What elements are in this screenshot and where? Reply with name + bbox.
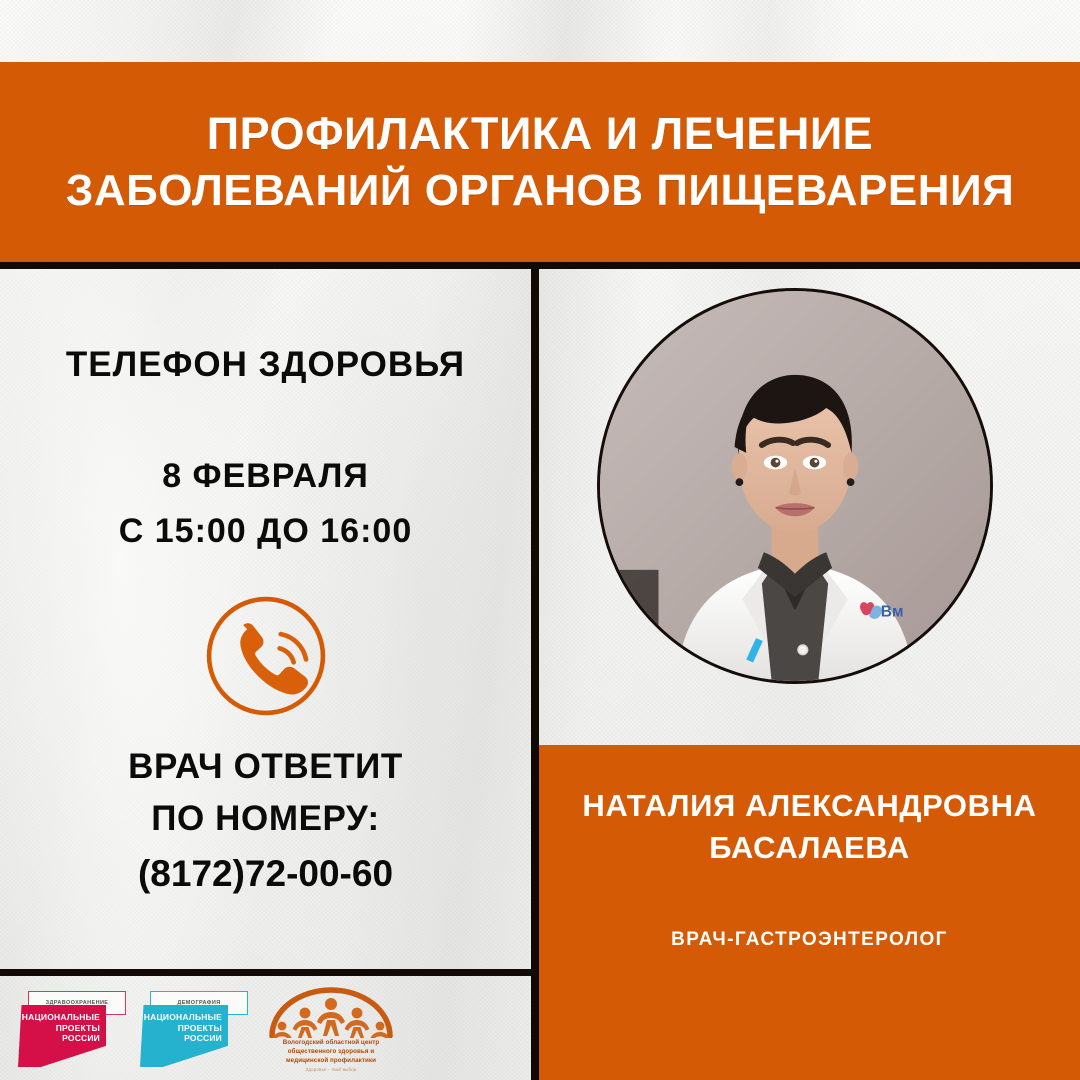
partner-logos-strip: ЗДРАВООХРАНЕНИЕ НАЦИОНАЛЬНЫЕ ПРОЕКТЫ РОС… <box>0 976 531 1080</box>
people-arc-icon <box>262 982 400 1038</box>
doctor-portrait-illustration: Вм <box>600 291 990 681</box>
header-title-line1: ПРОФИЛАКТИКА И ЛЕЧЕНИЕ <box>207 106 873 163</box>
section-title-health-phone: ТЕЛЕФОН ЗДОРОВЬЯ <box>66 345 465 385</box>
logo-vologda-health-center: Вологодский областной центр общественног… <box>262 982 400 1074</box>
left-bottom-divider <box>0 969 534 976</box>
logo-natsproekty-zdravoohranenie: ЗДРАВООХРАНЕНИЕ НАЦИОНАЛЬНЫЕ ПРОЕКТЫ РОС… <box>18 989 128 1067</box>
call-instruction-line1: ВРАЧ ОТВЕТИТ <box>128 747 403 787</box>
doctor-portrait-photo: Вм <box>597 288 993 684</box>
left-info-column: ТЕЛЕФОН ЗДОРОВЬЯ 8 ФЕВРАЛЯ С 15:00 ДО 16… <box>0 269 531 969</box>
logo-body: НАЦИОНАЛЬНЫЕ ПРОЕКТЫ РОССИИ <box>18 1005 106 1067</box>
svg-text:Вм: Вм <box>881 604 904 621</box>
center-logo-text: Вологодский областной центр общественног… <box>262 1039 400 1065</box>
doctor-name-panel: НАТАЛИЯ АЛЕКСАНДРОВНА БАСАЛАЕВА ВРАЧ-ГАС… <box>539 745 1080 1080</box>
logo-line1: НАЦИОНАЛЬНЫЕ <box>144 1012 222 1023</box>
logo-line1: НАЦИОНАЛЬНЫЕ <box>22 1012 100 1023</box>
doctor-name-line1: НАТАЛИЯ АЛЕКСАНДРОВНА <box>582 785 1036 827</box>
event-date: 8 ФЕВРАЛЯ <box>119 457 412 496</box>
logo-natsproekty-demografiya: ДЕМОГРАФИЯ НАЦИОНАЛЬНЫЕ ПРОЕКТЫ РОССИИ <box>140 989 250 1067</box>
event-datetime-block: 8 ФЕВРАЛЯ С 15:00 ДО 16:00 <box>119 457 412 551</box>
doctor-name-line2: БАСАЛАЕВА <box>709 827 910 869</box>
center-logo-line2: общественного здоровья и <box>262 1048 400 1057</box>
header-bottom-divider <box>0 262 1080 269</box>
center-logo-line3: медицинской профилактики <box>262 1057 400 1066</box>
center-logo-slogan: Здоровье - твой выбор <box>262 1067 400 1072</box>
doctor-role: ВРАЧ-ГАСТРОЭНТЕРОЛОГ <box>671 929 948 951</box>
call-instruction-block: ВРАЧ ОТВЕТИТ ПО НОМЕРУ: (8172)72-00-60 <box>128 747 403 895</box>
logo-line2: ПРОЕКТЫ <box>56 1023 100 1034</box>
logo-line3: РОССИИ <box>184 1033 222 1044</box>
logo-line2: ПРОЕКТЫ <box>178 1023 222 1034</box>
header-title-line2: ЗАБОЛЕВАНИЙ ОРГАНОВ ПИЩЕВАРЕНИЯ <box>66 163 1014 218</box>
vertical-divider <box>531 269 539 1080</box>
center-logo-line1: Вологодский областной центр <box>262 1039 400 1048</box>
event-time: С 15:00 ДО 16:00 <box>119 512 412 551</box>
call-instruction-line2: ПО НОМЕРУ: <box>128 799 403 839</box>
logo-line3: РОССИИ <box>62 1033 100 1044</box>
phone-number[interactable]: (8172)72-00-60 <box>128 853 403 895</box>
logo-body: НАЦИОНАЛЬНЫЕ ПРОЕКТЫ РОССИИ <box>140 1005 228 1067</box>
header-banner: ПРОФИЛАКТИКА И ЛЕЧЕНИЕ ЗАБОЛЕВАНИЙ ОРГАН… <box>0 62 1080 262</box>
right-doctor-column: Вм НАТАЛИЯ АЛЕКСАНДРОВНА БАСАЛАЕВА ВРАЧ-… <box>539 269 1080 1080</box>
phone-call-icon <box>205 595 327 717</box>
health-poster: ПРОФИЛАКТИКА И ЛЕЧЕНИЕ ЗАБОЛЕВАНИЙ ОРГАН… <box>0 0 1080 1080</box>
